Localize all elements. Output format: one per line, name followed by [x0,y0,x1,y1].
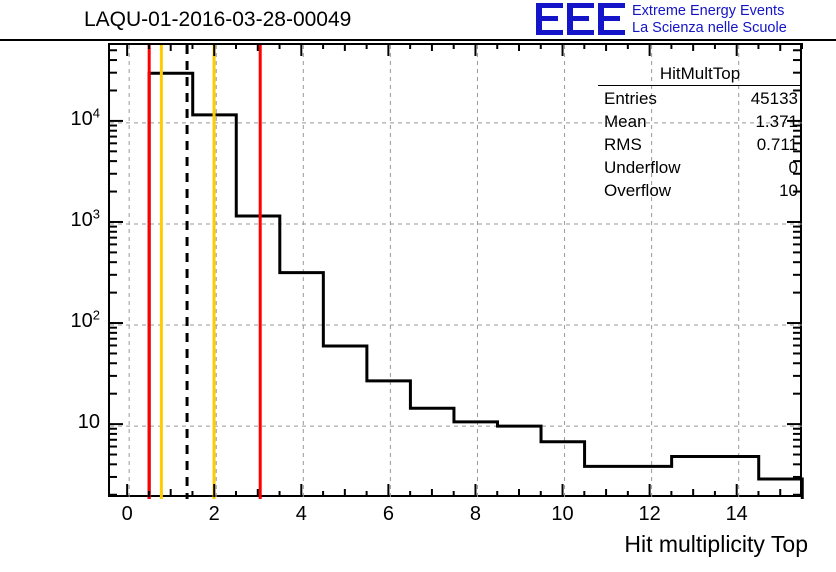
stats-row: Entries45133 [596,87,804,110]
stats-row-value: 10 [779,179,798,202]
x-tick-label: 14 [717,503,757,526]
stats-row: Underflow0 [596,156,804,179]
x-tick-label: 0 [107,503,147,526]
stats-row-key: Entries [604,87,657,110]
y-tick-label: 102 [40,310,100,333]
stats-row-key: RMS [604,133,642,156]
root-canvas: LAQU-01-2016-03-28-00049 Extreme Energy … [0,0,836,572]
stats-box: HitMultTop Entries45133Mean1.371RMS0.711… [596,62,804,205]
x-tick-label: 4 [281,503,321,526]
y-tick-label: 103 [40,209,100,232]
stats-row-key: Mean [604,110,647,133]
stats-row-key: Overflow [604,179,671,202]
stats-row: Mean1.371 [596,110,804,133]
stats-title: HitMultTop [596,62,804,85]
stats-rows: Entries45133Mean1.371RMS0.711Underflow0O… [596,87,804,202]
stats-row: Overflow10 [596,179,804,202]
stats-row-value: 0 [789,156,798,179]
y-tick-label: 104 [40,108,100,131]
x-tick-label: 10 [543,503,583,526]
stats-divider [598,85,802,86]
x-tick-label: 2 [194,503,234,526]
stats-row-value: 0.711 [757,133,798,156]
x-tick-label: 12 [630,503,670,526]
x-axis-title: Hit multiplicity Top [624,531,808,558]
x-tick-label: 6 [368,503,408,526]
stats-row-value: 45133 [751,87,798,110]
stats-row: RMS0.711 [596,133,804,156]
stats-row-value: 1.371 [755,110,798,133]
x-tick-label: 8 [455,503,495,526]
y-tick-label: 10 [40,411,100,434]
stats-row-key: Underflow [604,156,681,179]
